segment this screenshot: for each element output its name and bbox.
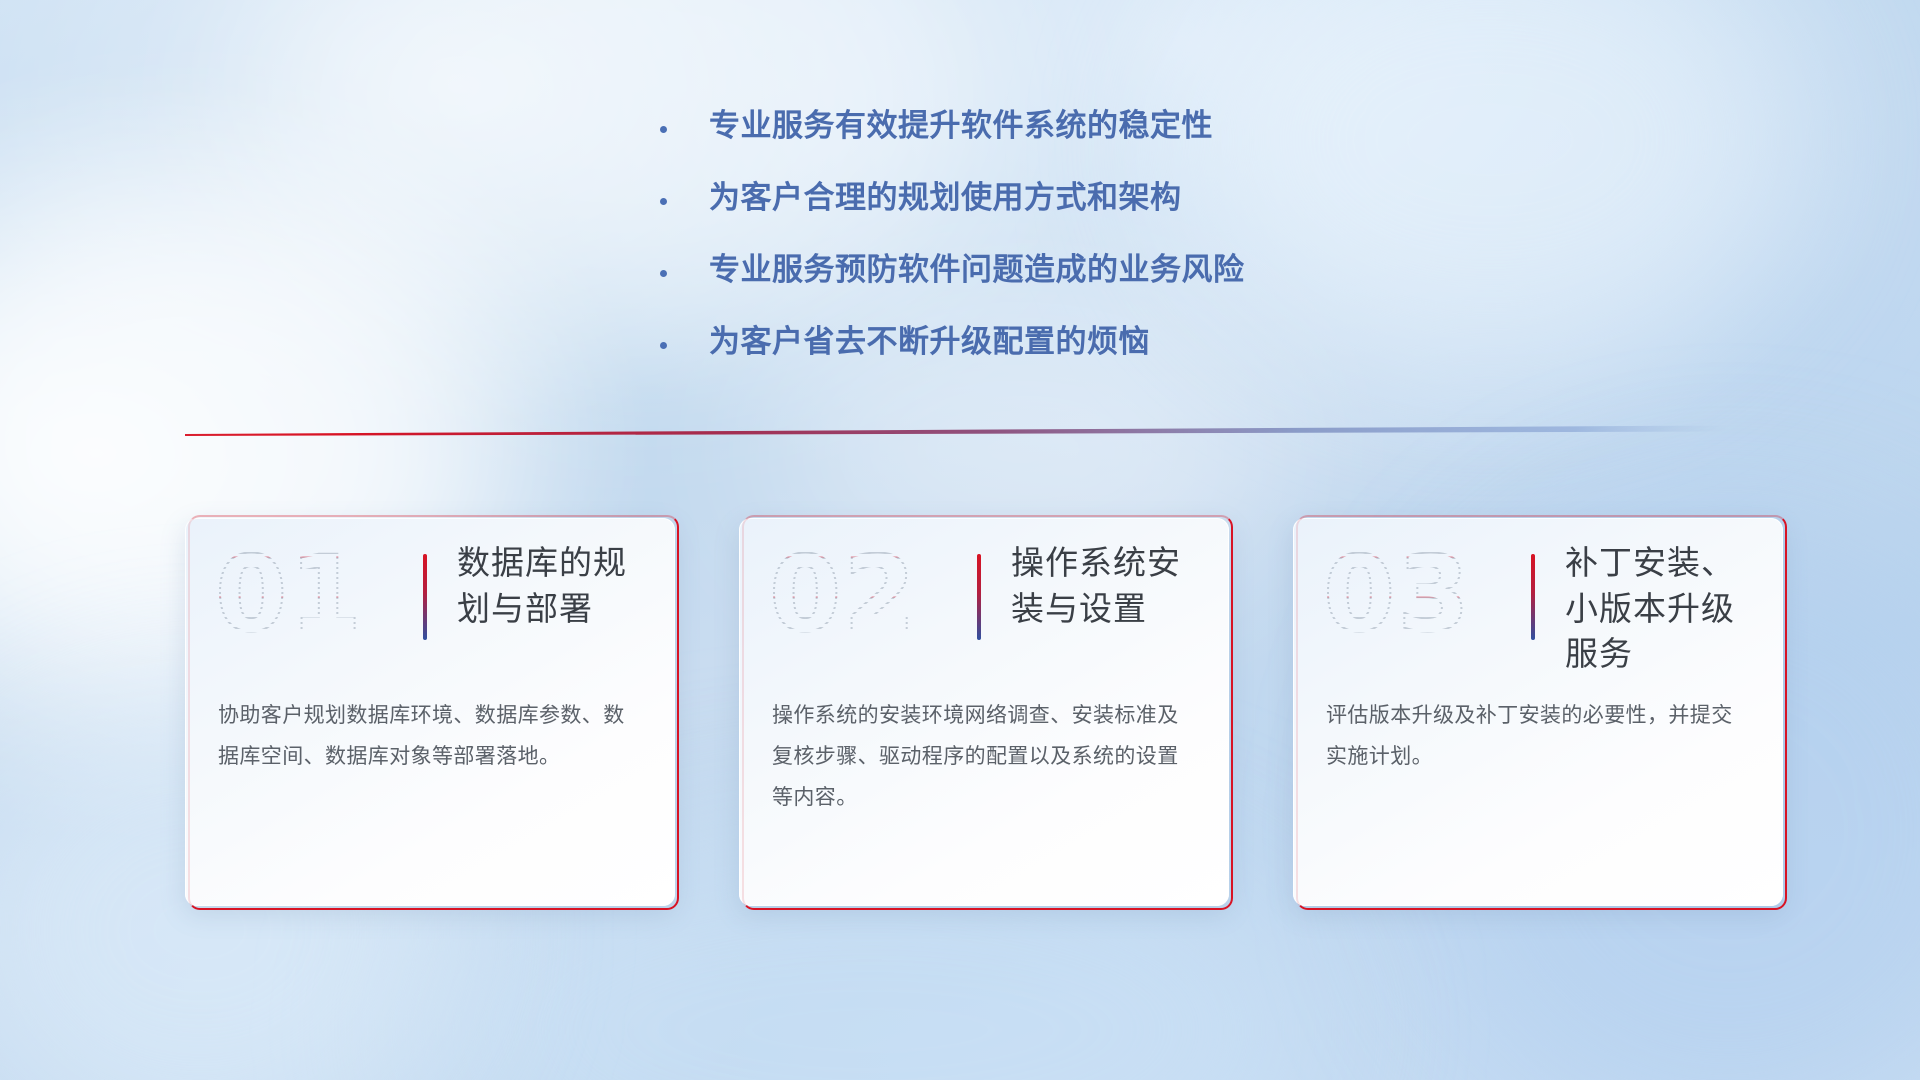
background-blob <box>1180 0 1800 370</box>
bullet-text: 专业服务预防软件问题造成的业务风险 <box>709 248 1245 293</box>
card-header: 02 02 操作系统安装与设置 <box>739 518 1229 668</box>
section-divider <box>185 424 1730 436</box>
card-title: 数据库的规划与部署 <box>457 540 657 631</box>
service-card-03[interactable]: 03 03 补丁安装、小版本升级服务 评估版本升级及补丁安装的必要性，并提交实施… <box>1293 518 1783 906</box>
service-card-01[interactable]: 01 01 数据库的规划与部署 协助客户规划数据库环境、数据库参数、数据库空间、… <box>185 518 675 906</box>
card-body-text: 协助客户规划数据库环境、数据库参数、数据库空间、数据库对象等部署落地。 <box>218 696 645 778</box>
bullet-text: 专业服务有效提升软件系统的稳定性 <box>709 104 1213 149</box>
card-number-ghost-tint: 02 <box>769 542 918 646</box>
card-title: 补丁安装、小版本升级服务 <box>1565 540 1765 677</box>
slide-root: 专业服务有效提升软件系统的稳定性 为客户合理的规划使用方式和架构 专业服务预防软… <box>0 0 1920 1080</box>
card-number-ghost-tint: 03 <box>1323 542 1472 646</box>
bullet-text: 为客户省去不断升级配置的烦恼 <box>709 320 1150 365</box>
bullet-text: 为客户合理的规划使用方式和架构 <box>709 176 1182 221</box>
list-item: 为客户合理的规划使用方式和架构 <box>660 176 1245 221</box>
title-accent-rule <box>1531 554 1535 640</box>
list-item: 专业服务预防软件问题造成的业务风险 <box>660 248 1245 293</box>
list-item: 为客户省去不断升级配置的烦恼 <box>660 320 1245 365</box>
card-title: 操作系统安装与设置 <box>1011 540 1211 631</box>
bullet-dot-icon <box>660 198 667 205</box>
bullet-dot-icon <box>660 126 667 133</box>
title-accent-rule <box>977 554 981 640</box>
service-card-02[interactable]: 02 02 操作系统安装与设置 操作系统的安装环境网络调查、安装标准及复核步骤、… <box>739 518 1229 906</box>
card-header: 01 01 数据库的规划与部署 <box>185 518 675 668</box>
card-body-text: 评估版本升级及补丁安装的必要性，并提交实施计划。 <box>1326 696 1753 778</box>
benefits-bullet-list: 专业服务有效提升软件系统的稳定性 为客户合理的规划使用方式和架构 专业服务预防软… <box>660 104 1245 392</box>
service-card-list: 01 01 数据库的规划与部署 协助客户规划数据库环境、数据库参数、数据库空间、… <box>185 518 1745 918</box>
card-number-ghost-tint: 01 <box>215 542 364 646</box>
card-body-text: 操作系统的安装环境网络调查、安装标准及复核步骤、驱动程序的配置以及系统的设置等内… <box>772 696 1199 819</box>
card-header: 03 03 补丁安装、小版本升级服务 <box>1293 518 1783 668</box>
title-accent-rule <box>423 554 427 640</box>
bullet-dot-icon <box>660 342 667 349</box>
list-item: 专业服务有效提升软件系统的稳定性 <box>660 104 1245 149</box>
bullet-dot-icon <box>660 270 667 277</box>
